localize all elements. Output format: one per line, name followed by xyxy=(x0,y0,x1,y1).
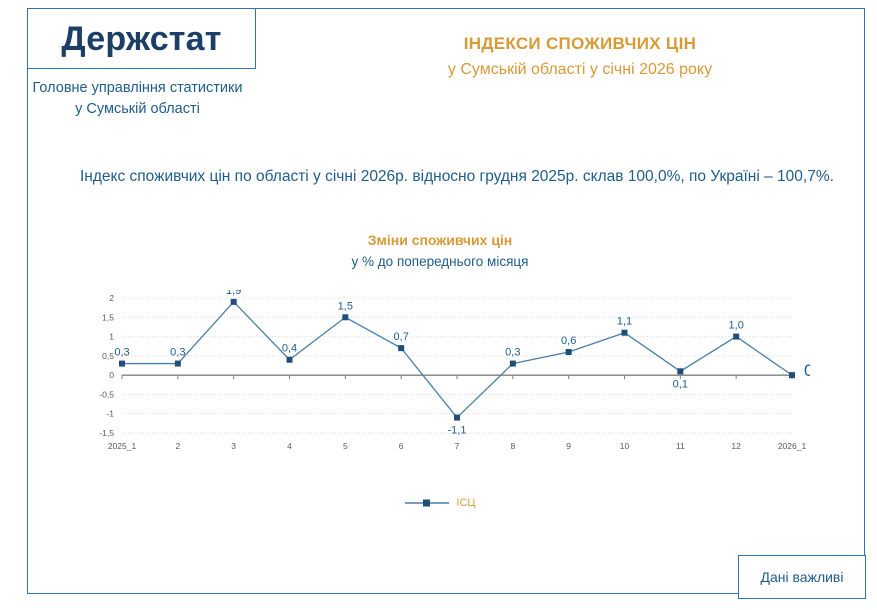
y-tick-label: -1 xyxy=(106,409,114,419)
page-title-line2: у Сумській області у січні 2026 року xyxy=(300,58,860,81)
data-point-marker xyxy=(231,299,237,305)
data-point-marker xyxy=(622,330,628,336)
x-tick-label: 11 xyxy=(676,441,685,451)
important-data-label: Дані важливі xyxy=(761,569,844,585)
page-title: ІНДЕКСИ СПОЖИВЧИХ ЦІН у Сумській області… xyxy=(300,33,860,81)
x-tick-label: 7 xyxy=(455,441,460,451)
chart-gridlines xyxy=(122,298,792,433)
org-name-line1: Головне управління статистики xyxy=(33,80,243,96)
page-title-line1: ІНДЕКСИ СПОЖИВЧИХ ЦІН xyxy=(300,33,860,56)
data-point-marker xyxy=(677,368,683,374)
data-point-marker xyxy=(566,349,572,355)
x-tick-label: 4 xyxy=(287,441,292,451)
legend-line-marker-icon xyxy=(404,497,450,509)
x-tick-label: 2026_1 xyxy=(778,441,807,451)
data-point-marker xyxy=(398,345,404,351)
chart-svg: 21,510,50-0,5-1-1,5 2025_123456789101112… xyxy=(70,290,810,455)
y-tick-label: 1 xyxy=(109,332,114,342)
x-tick-label: 2025_1 xyxy=(108,441,137,451)
data-point-label: 1,5 xyxy=(338,300,353,312)
x-tick-label: 3 xyxy=(231,441,236,451)
data-point-marker xyxy=(175,361,181,367)
x-tick-label: 10 xyxy=(620,441,630,451)
data-point-marker xyxy=(287,357,293,363)
y-tick-label: 0 xyxy=(109,370,114,380)
y-tick-label: 2 xyxy=(109,293,114,303)
data-point-label: 0,3 xyxy=(170,347,185,359)
data-point-marker xyxy=(789,372,795,378)
consumer-price-change-chart: Зміни споживчих цін у % до попереднього … xyxy=(70,232,810,522)
x-tick-label: 6 xyxy=(399,441,404,451)
chart-subtitle: у % до попереднього місяця xyxy=(70,254,810,269)
important-data-box: Дані важливі xyxy=(738,555,866,599)
chart-x-axis-labels: 2025_1234567891011122026_1 xyxy=(108,441,807,451)
data-point-label: 0,1 xyxy=(673,378,688,390)
data-point-label: 0,6 xyxy=(561,335,576,347)
org-name-line2: у Сумській області xyxy=(10,99,265,120)
data-point-label: 1,0 xyxy=(729,320,744,332)
logo-text: Держстат xyxy=(61,22,221,56)
x-tick-label: 12 xyxy=(731,441,741,451)
y-tick-label: 1,5 xyxy=(102,312,114,322)
intro-text: Індекс споживчих цін по області у січні … xyxy=(80,168,834,185)
data-point-label: 1,9 xyxy=(226,290,241,297)
chart-title: Зміни споживчих цін xyxy=(70,232,810,248)
chart-series-line xyxy=(122,302,792,418)
data-point-marker xyxy=(510,361,516,367)
x-tick-label: 9 xyxy=(566,441,571,451)
x-tick-label: 8 xyxy=(510,441,515,451)
y-tick-label: -0,5 xyxy=(99,389,114,399)
data-point-label: 0,7 xyxy=(394,331,409,343)
data-point-label: 0,3 xyxy=(505,347,520,359)
derzhstat-logo: Держстат xyxy=(27,8,256,69)
legend-label-isc: ІСЦ xyxy=(456,497,475,509)
data-point-marker xyxy=(119,361,125,367)
data-point-label: 0,4 xyxy=(282,343,297,355)
x-tick-label: 5 xyxy=(343,441,348,451)
x-tick-label: 2 xyxy=(175,441,180,451)
y-tick-label: -1,5 xyxy=(99,428,114,438)
data-point-label: 1,1 xyxy=(617,316,632,328)
data-point-label: -1,1 xyxy=(448,425,467,437)
chart-data-labels: 0,30,31,90,41,50,7-1,10,30,61,10,11,00,0 xyxy=(114,290,810,437)
page-root: Держстат Головне управління статистики у… xyxy=(0,0,877,610)
data-point-label: 0,3 xyxy=(114,347,129,359)
data-point-marker xyxy=(733,334,739,340)
chart-y-axis-labels: 21,510,50-0,5-1-1,5 xyxy=(99,293,114,438)
chart-plot-area: 21,510,50-0,5-1-1,5 2025_123456789101112… xyxy=(70,290,810,455)
chart-legend: ІСЦ xyxy=(70,497,810,509)
data-point-label: 0,0 xyxy=(804,361,810,380)
data-point-marker xyxy=(454,415,460,421)
y-tick-label: 0,5 xyxy=(102,351,114,361)
organisation-name: Головне управління статистики у Сумській… xyxy=(10,78,265,120)
data-point-marker xyxy=(342,314,348,320)
intro-paragraph: Індекс споживчих цін по області у січні … xyxy=(38,164,856,189)
